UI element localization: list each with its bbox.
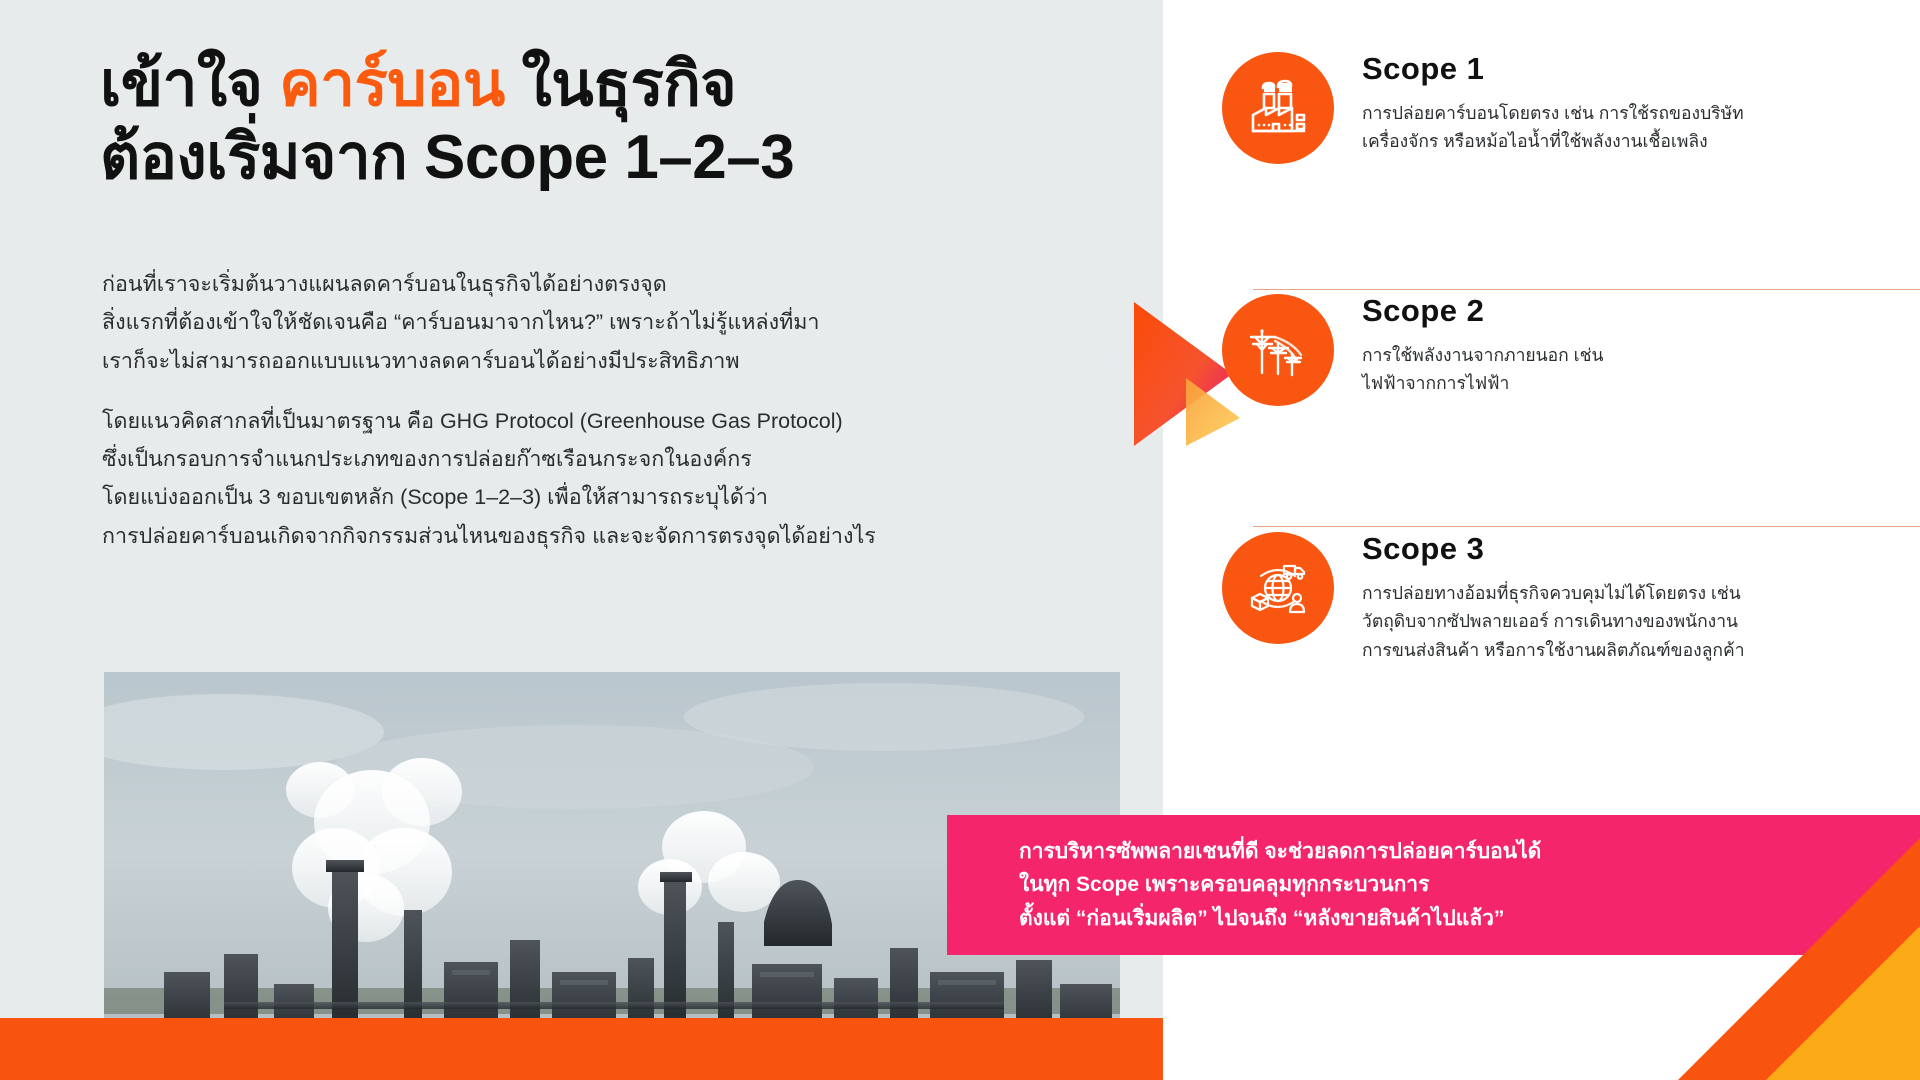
callout-line-2: ในทุก Scope เพราะครอบคลุมทุกกระบวนการ [1019, 868, 1541, 902]
scope-1-desc-line-1: การปล่อยคาร์บอนโดยตรง เช่น การใช้รถของบร… [1362, 99, 1920, 127]
scope-2-description: การใช้พลังงานจากภายนอก เช่น ไฟฟ้าจากการไ… [1362, 341, 1920, 398]
power-line-glyph [1245, 317, 1311, 383]
scope-1-desc-line-2: เครื่องจักร หรือหม้อไอน้ำที่ใช้พลังงานเช… [1362, 127, 1920, 155]
paragraph-2-line-3: โดยแบ่งออกเป็น 3 ขอบเขตหลัก (Scope 1–2–3… [102, 478, 942, 516]
divider-2 [1253, 526, 1920, 527]
paragraph-1: ก่อนที่เราจะเริ่มต้นวางแผนลดคาร์บอนในธุร… [102, 265, 942, 380]
scope-3-body: Scope 3 การปล่อยทางอ้อมที่ธุรกิจควบคุมไม… [1362, 532, 1920, 664]
scope-3-desc-line-3: การขนส่งสินค้า หรือการใช้งานผลิตภัณฑ์ของ… [1362, 636, 1920, 664]
supply-chain-glyph [1244, 554, 1312, 622]
divider-1 [1253, 289, 1920, 290]
scope-3-desc-line-1: การปล่อยทางอ้อมที่ธุรกิจควบคุมไม่ได้โดยต… [1362, 579, 1920, 607]
corner-wedge-icon [1520, 830, 1920, 1080]
callout-line-1: การบริหารซัพพลายเชนที่ดี จะช่วยลดการปล่อ… [1019, 835, 1541, 869]
factory-icon [1222, 52, 1334, 164]
scope-1-body: Scope 1 การปล่อยคาร์บอนโดยตรง เช่น การใช… [1362, 52, 1920, 156]
scope-2-desc-line-1: การใช้พลังงานจากภายนอก เช่น [1362, 341, 1920, 369]
scope-1-title: Scope 1 [1362, 52, 1920, 86]
scope-card-1: Scope 1 การปล่อยคาร์บอนโดยตรง เช่น การใช… [1222, 52, 1920, 156]
paragraph-2-line-2: ซึ่งเป็นกรอบการจำแนกประเภทของการปล่อยก๊า… [102, 440, 942, 478]
paragraph-1-line-2: สิ่งแรกที่ต้องเข้าใจให้ชัดเจนคือ “คาร์บอ… [102, 303, 942, 341]
scope-1-description: การปล่อยคาร์บอนโดยตรง เช่น การใช้รถของบร… [1362, 99, 1920, 156]
scope-2-body: Scope 2 การใช้พลังงานจากภายนอก เช่น ไฟฟ้… [1362, 294, 1920, 398]
headline-line2: ต้องเริ่มจาก Scope 1–2–3 [100, 121, 1100, 194]
infographic-stage: เข้าใจ คาร์บอน ในธุรกิจ ต้องเริ่มจาก Sco… [0, 0, 1920, 1080]
page-title: เข้าใจ คาร์บอน ในธุรกิจ ต้องเริ่มจาก Sco… [100, 48, 1100, 194]
power-line-icon [1222, 294, 1334, 406]
scope-3-description: การปล่อยทางอ้อมที่ธุรกิจควบคุมไม่ได้โดยต… [1362, 579, 1920, 664]
scope-3-title: Scope 3 [1362, 532, 1920, 566]
scope-3-desc-line-2: วัตถุดิบจากซัปพลายเออร์ การเดินทางของพนั… [1362, 607, 1920, 635]
callout-text: การบริหารซัพพลายเชนที่ดี จะช่วยลดการปล่อ… [1019, 835, 1541, 936]
scope-2-desc-line-2: ไฟฟ้าจากการไฟฟ้า [1362, 369, 1920, 397]
paragraph-2-line-1: โดยแนวคิดสากลที่เป็นมาตรฐาน คือ GHG Prot… [102, 402, 942, 440]
paragraph-1-line-3: เราก็จะไม่สามารถออกแบบแนวทางลดคาร์บอนได้… [102, 342, 942, 380]
headline-text-after-accent: ในธุรกิจ [505, 50, 736, 119]
scope-card-3: Scope 3 การปล่อยทางอ้อมที่ธุรกิจควบคุมไม… [1222, 532, 1920, 664]
paragraph-1-line-1: ก่อนที่เราจะเริ่มต้นวางแผนลดคาร์บอนในธุร… [102, 265, 942, 303]
callout-line-3: ตั้งแต่ “ก่อนเริ่มผลิต” ไปจนถึง “หลังขาย… [1019, 902, 1541, 936]
paragraph-2: โดยแนวคิดสากลที่เป็นมาตรฐาน คือ GHG Prot… [102, 402, 942, 555]
supply-chain-globe-icon [1222, 532, 1334, 644]
scope-2-title: Scope 2 [1362, 294, 1920, 328]
bottom-bar [0, 1018, 1163, 1080]
headline-accent-word: คาร์บอน [279, 50, 505, 119]
headline-text-before-accent: เข้าใจ [100, 50, 279, 119]
body-copy: ก่อนที่เราจะเริ่มต้นวางแผนลดคาร์บอนในธุร… [102, 265, 942, 555]
corner-wedge [1520, 830, 1920, 1080]
headline-line1: เข้าใจ คาร์บอน ในธุรกิจ [100, 50, 736, 119]
scope-card-2: Scope 2 การใช้พลังงานจากภายนอก เช่น ไฟฟ้… [1222, 294, 1920, 398]
paragraph-2-line-4: การปล่อยคาร์บอนเกิดจากกิจกรรมส่วนไหนของธ… [102, 517, 942, 555]
factory-glyph [1245, 75, 1311, 141]
